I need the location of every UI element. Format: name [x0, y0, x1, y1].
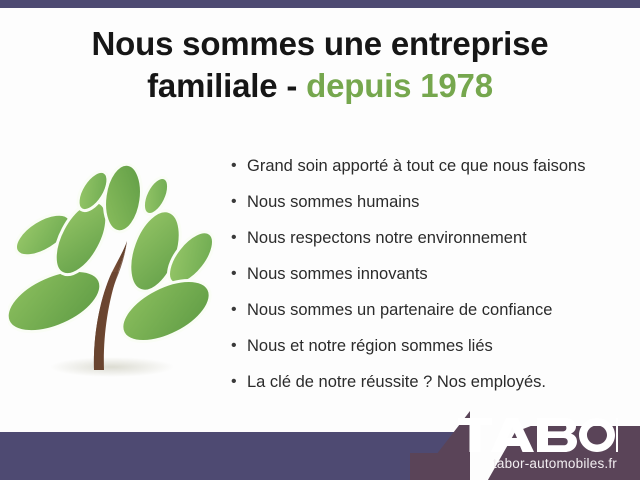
bullet-marker: •: [231, 148, 237, 184]
list-item: • Nous respectons notre environnement: [228, 220, 628, 256]
bullet-marker: •: [231, 184, 237, 220]
list-item: • Nous sommes un partenaire de confiance: [228, 292, 628, 328]
list-item-label: Grand soin apporté à tout ce que nous fa…: [247, 157, 585, 175]
list-item-label: Nous respectons notre environnement: [247, 229, 527, 247]
brand-domain-label[interactable]: tabor-automobiles.fr: [493, 456, 617, 471]
brand-wordmark[interactable]: [458, 418, 618, 452]
list-item-label: Nous sommes innovants: [247, 265, 428, 283]
tree-illustration: [8, 138, 223, 388]
list-item: • Nous sommes humains: [228, 184, 628, 220]
slide-canvas: Nous sommes une entreprise familiale - d…: [0, 0, 640, 480]
list-item: • Grand soin apporté à tout ce que nous …: [228, 148, 628, 184]
list-item-label: Nous sommes humains: [247, 193, 419, 211]
leaf-right-large: [112, 268, 219, 354]
list-item-label: La clé de notre réussite ? Nos employés.: [247, 373, 546, 391]
list-item: • Nous et notre région sommes liés: [228, 328, 628, 364]
bullet-marker: •: [231, 292, 237, 328]
tree-shadow: [50, 357, 174, 377]
list-item-label: Nous sommes un partenaire de confiance: [247, 301, 552, 319]
bullet-marker: •: [231, 328, 237, 364]
headline-line-1: Nous sommes une entreprise: [0, 24, 640, 64]
value-proposition-list: • Grand soin apporté à tout ce que nous …: [228, 148, 628, 400]
footer-left-bar: [0, 432, 470, 480]
list-item-label: Nous et notre région sommes liés: [247, 337, 493, 355]
top-accent-bar: [0, 0, 640, 8]
bullet-marker: •: [231, 220, 237, 256]
list-item: • La clé de notre réussite ? Nos employé…: [228, 364, 628, 400]
headline-line-2: familiale - depuis 1978: [0, 66, 640, 106]
page-title: Nous sommes une entreprise familiale - d…: [0, 24, 640, 107]
bullet-marker: •: [231, 364, 237, 400]
headline-dash: -: [286, 67, 297, 104]
headline-accent-year: depuis 1978: [306, 67, 493, 104]
headline-line-2-prefix: familiale: [147, 67, 277, 104]
bullet-marker: •: [231, 256, 237, 292]
list-item: • Nous sommes innovants: [228, 256, 628, 292]
